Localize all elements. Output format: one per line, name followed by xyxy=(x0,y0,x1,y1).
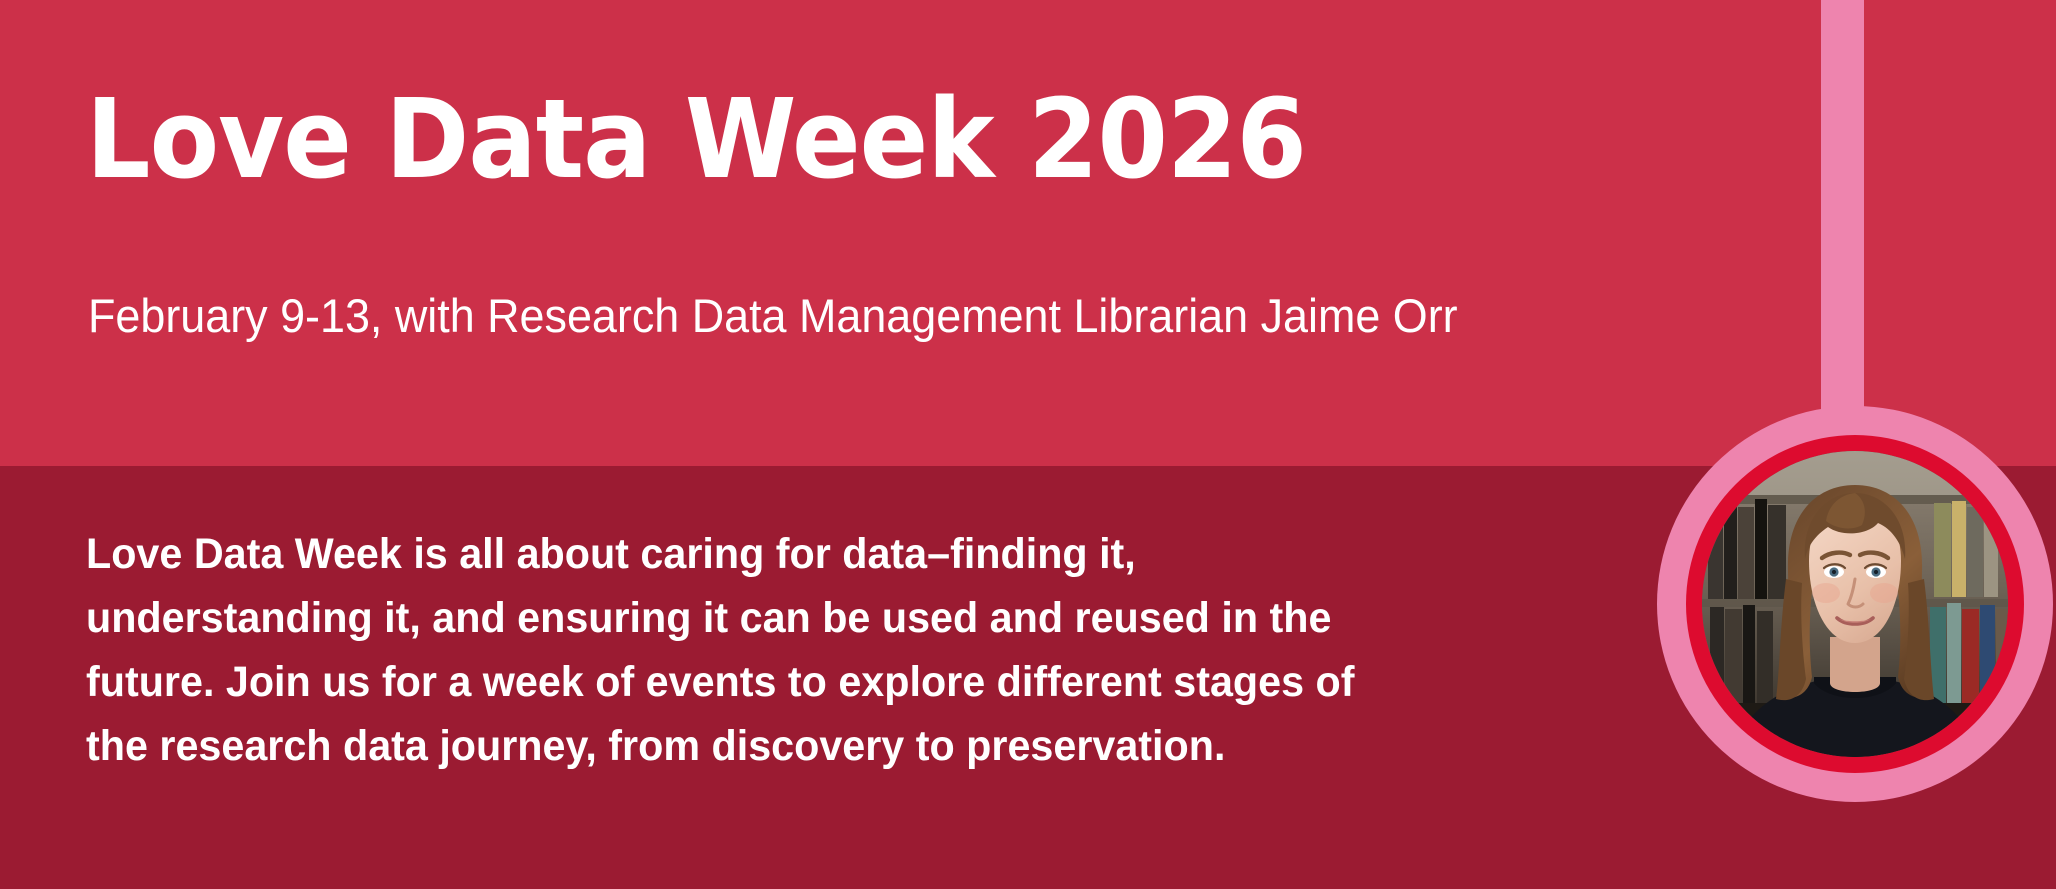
love-data-week-banner: Love Data Week 2026 February 9-13, with … xyxy=(0,0,2056,889)
description-line: understanding it, and ensuring it can be… xyxy=(86,586,1516,650)
description-line: future. Join us for a week of events to … xyxy=(86,650,1516,714)
avatar xyxy=(1702,451,2008,757)
banner-subtitle: February 9-13, with Research Data Manage… xyxy=(88,289,1769,343)
page-title: Love Data Week 2026 xyxy=(86,84,1650,194)
description-line: Love Data Week is all about caring for d… xyxy=(86,522,1516,586)
top-color-band xyxy=(0,0,2056,466)
description-line: the research data journey, from discover… xyxy=(86,714,1516,778)
vertical-accent-bar-icon xyxy=(1821,0,1864,420)
banner-description: Love Data Week is all about caring for d… xyxy=(86,522,1516,778)
portrait-medallion xyxy=(1657,406,2053,802)
